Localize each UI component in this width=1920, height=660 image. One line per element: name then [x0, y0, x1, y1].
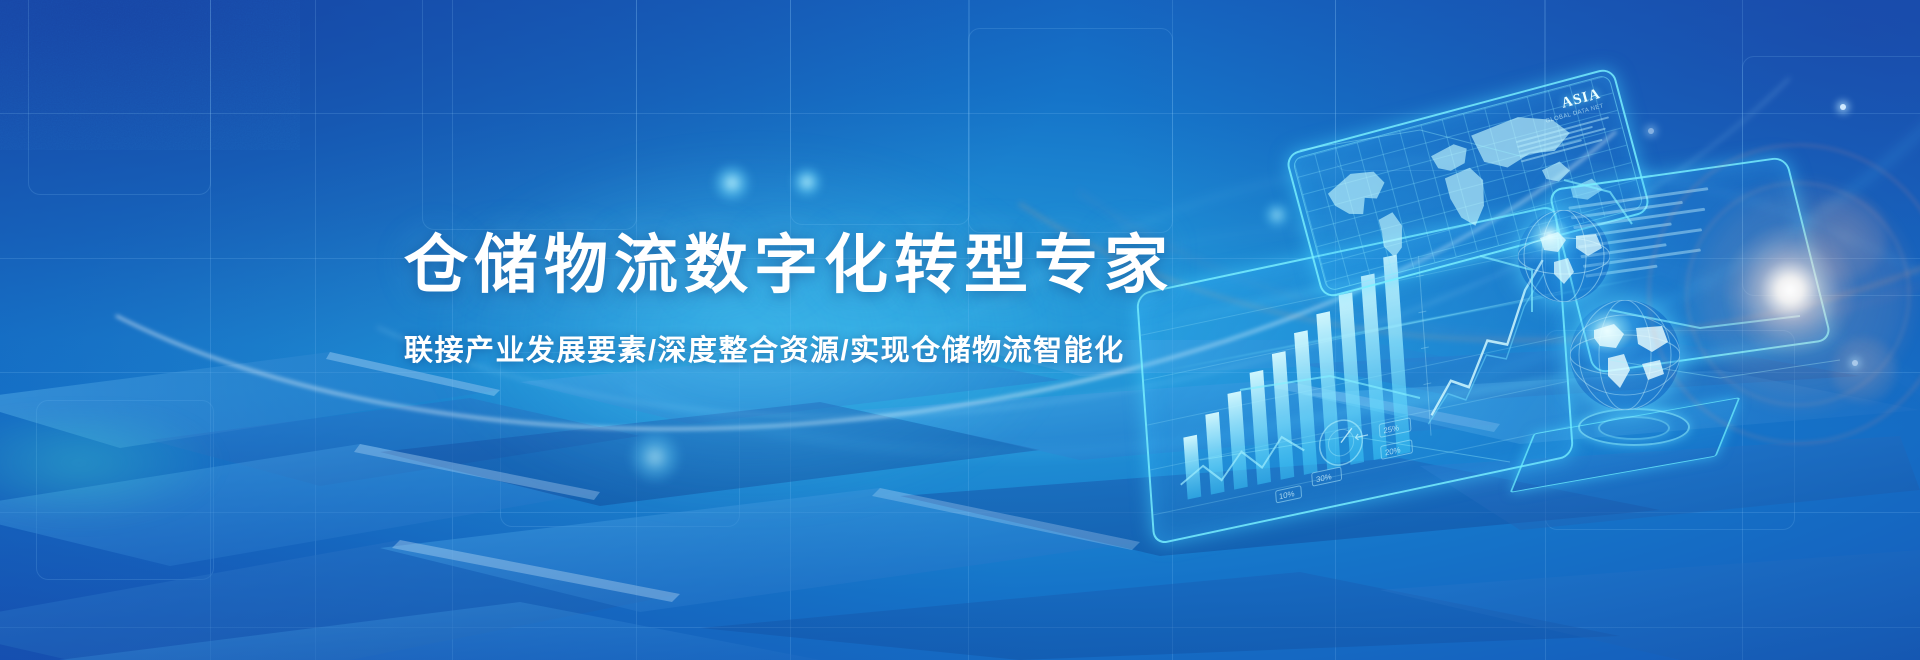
lens-flare-sparkle: [1648, 128, 1654, 134]
hero-banner: 30% 25% 20% 10%: [0, 0, 1920, 660]
glow-spark: [705, 156, 759, 210]
glow-spark: [618, 420, 692, 494]
glow-spark: [785, 160, 829, 204]
pedestal-ring-inner: [1598, 416, 1670, 440]
lens-flare-icon: [1700, 200, 1880, 380]
page-title: 仓储物流数字化转型专家: [404, 232, 1174, 299]
globe-icon: [1518, 210, 1610, 302]
hero-copy: 仓储物流数字化转型专家 联接产业发展要素/深度整合资源/实现仓储物流智能化: [404, 232, 1174, 369]
lens-flare-sparkle: [1840, 104, 1846, 110]
globe-continents-svg: [1518, 210, 1610, 302]
lens-flare-sparkle: [1852, 360, 1858, 366]
page-subtitle: 联接产业发展要素/深度整合资源/实现仓储物流智能化: [404, 327, 1174, 369]
